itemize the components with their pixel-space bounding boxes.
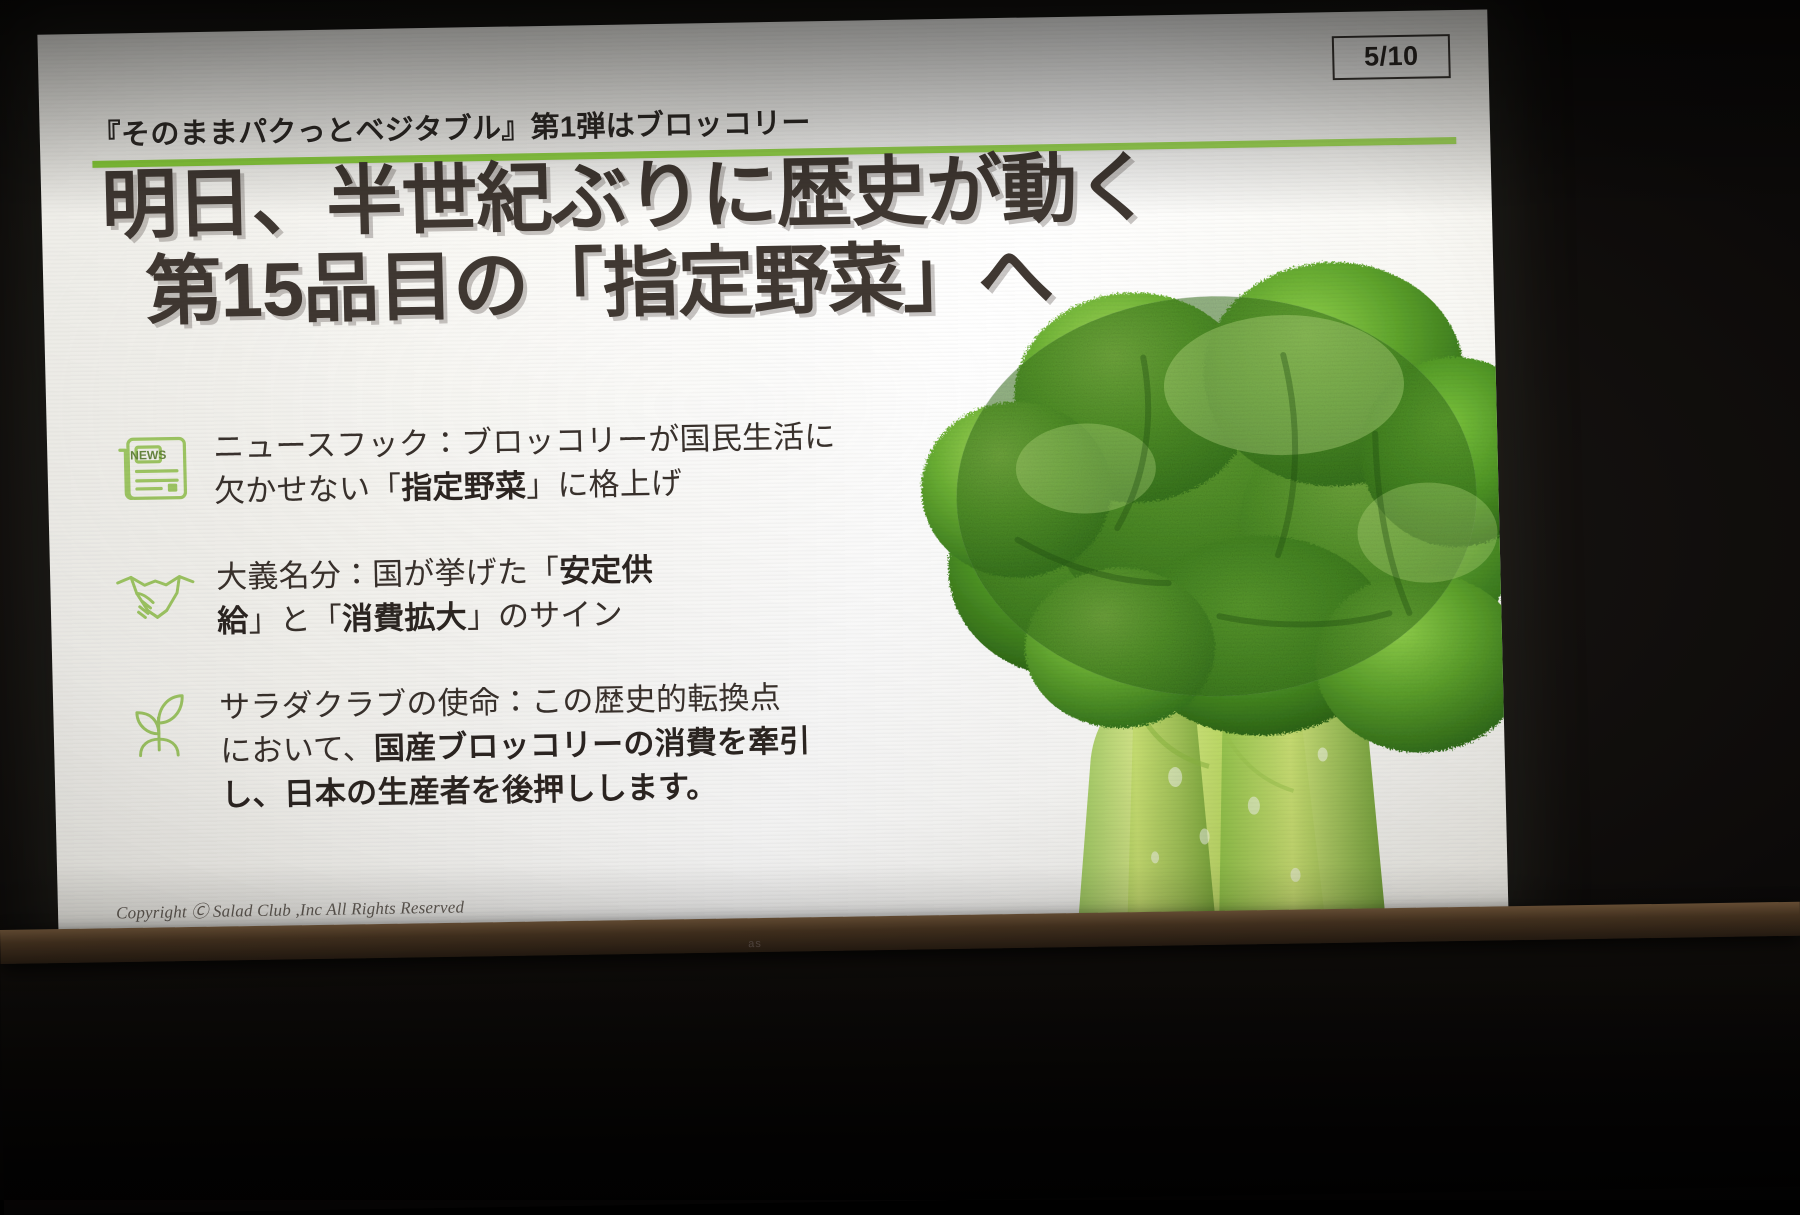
bullet-text: 大義名分：国が挙げた「安定供給」と「消費拡大」のサイン <box>216 540 904 644</box>
handshake-icon <box>112 552 200 639</box>
bullet-item: 大義名分：国が挙げた「安定供給」と「消費拡大」のサイン <box>112 540 904 646</box>
stage-shadow <box>0 927 1800 1215</box>
rail-label: as <box>725 938 785 951</box>
newspaper-icon: NEWS <box>109 422 197 509</box>
bullet-list: NEWS ニュースフック：ブロッコリーが国民生活に欠かせない「指定野菜」に格上げ <box>109 410 909 858</box>
svg-text:NEWS: NEWS <box>130 448 167 463</box>
bullet-text: サラダクラブの使命：この歴史的転換点において、国産ブロッコリーの消費を牽引し、日… <box>219 670 908 818</box>
page-number-badge: 5/10 <box>1332 34 1451 80</box>
bullet-item: サラダクラブの使命：この歴史的転換点において、国産ブロッコリーの消費を牽引し、日… <box>115 670 908 820</box>
bullet-item: NEWS ニュースフック：ブロッコリーが国民生活に欠かせない「指定野菜」に格上げ <box>109 410 901 516</box>
sprout-icon <box>115 682 203 769</box>
projection-screen: 5/10 『そのままパクっとベジタブル』第1弾はブロッコリー 明日、半世紀ぶりに… <box>37 9 1508 944</box>
presentation-slide: 5/10 『そのままパクっとベジタブル』第1弾はブロッコリー 明日、半世紀ぶりに… <box>37 9 1508 944</box>
bullet-text: ニュースフック：ブロッコリーが国民生活に欠かせない「指定野菜」に格上げ <box>213 410 901 514</box>
copyright-text: Copyright Ⓒ Salad Club ,Inc All Rights R… <box>116 892 465 923</box>
broccoli-photo <box>811 231 1509 943</box>
dark-room-background: 5/10 『そのままパクっとベジタブル』第1弾はブロッコリー 明日、半世紀ぶりに… <box>0 0 1800 1200</box>
